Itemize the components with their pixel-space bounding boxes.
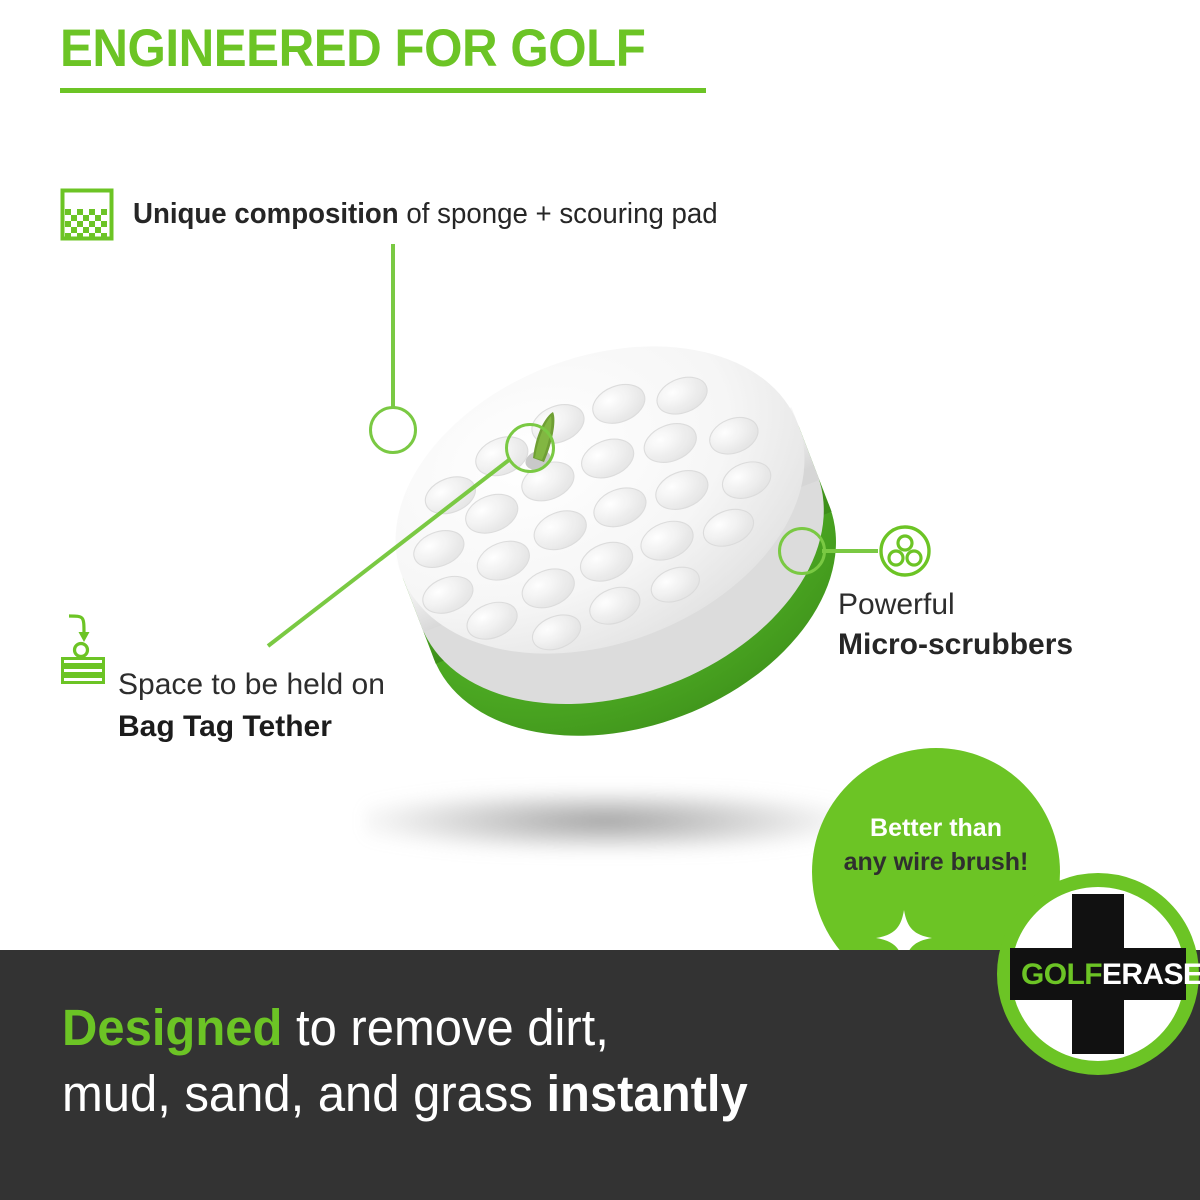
footer-line1-rest: to remove dirt,: [282, 999, 609, 1056]
feature-tether-line1: Space to be held on: [118, 664, 385, 706]
marker-ring-scrubbers: [778, 527, 826, 575]
three-dot-circle-icon: [878, 524, 932, 583]
marker-ring-tether-hole: [505, 423, 555, 473]
product-image-golf-eraser: [352, 292, 852, 742]
brand-logo-golferasers: GOLFERASERS™: [996, 872, 1200, 1076]
page-title: ENGINEERED FOR GOLF: [60, 18, 645, 79]
feature-tether-label: Space to be held on Bag Tag Tether: [118, 664, 385, 748]
feature-scrubbers-line2: Micro-scrubbers: [838, 625, 1073, 665]
title-underline-rule: [60, 88, 706, 93]
claim-badge-line1: Better than: [812, 814, 1060, 843]
logo-wordmark: GOLFERASERS™: [1021, 958, 1200, 991]
leader-line-composition: [391, 244, 395, 409]
footer-line2-rest: mud, sand, and grass: [62, 1065, 546, 1122]
feature-scrubbers-line1: Powerful: [838, 585, 1073, 625]
feature-composition-bold: Unique composition: [133, 198, 399, 230]
footer-tagline-line1: Designed to remove dirt,: [62, 995, 926, 1061]
feature-composition-label: Unique composition of sponge + scouring …: [133, 198, 718, 231]
feature-micro-scrubbers: Powerful Micro-scrubbers: [838, 585, 1073, 665]
feature-tether-line2: Bag Tag Tether: [118, 706, 385, 748]
feature-composition-regular: of sponge + scouring pad: [399, 198, 718, 230]
footer-tagline-line2: mud, sand, and grass instantly: [62, 1061, 926, 1127]
footer-designed-word: Designed: [62, 999, 282, 1056]
tether-hole-icon: [60, 612, 106, 684]
infographic-canvas: ENGINEERED FOR GOLF: [0, 0, 1200, 1200]
product-drop-shadow: [365, 790, 845, 852]
checker-square-icon: [60, 188, 114, 241]
logo-golf-part: GOLF: [1021, 958, 1102, 991]
logo-erasers-part: ERASERS: [1102, 958, 1200, 991]
feature-unique-composition: Unique composition of sponge + scouring …: [60, 188, 736, 241]
footer-tagline: Designed to remove dirt, mud, sand, and …: [62, 995, 962, 1127]
footer-instantly-word: instantly: [546, 1065, 747, 1122]
marker-ring-composition: [369, 406, 417, 454]
leader-line-scrubbers: [822, 549, 878, 553]
